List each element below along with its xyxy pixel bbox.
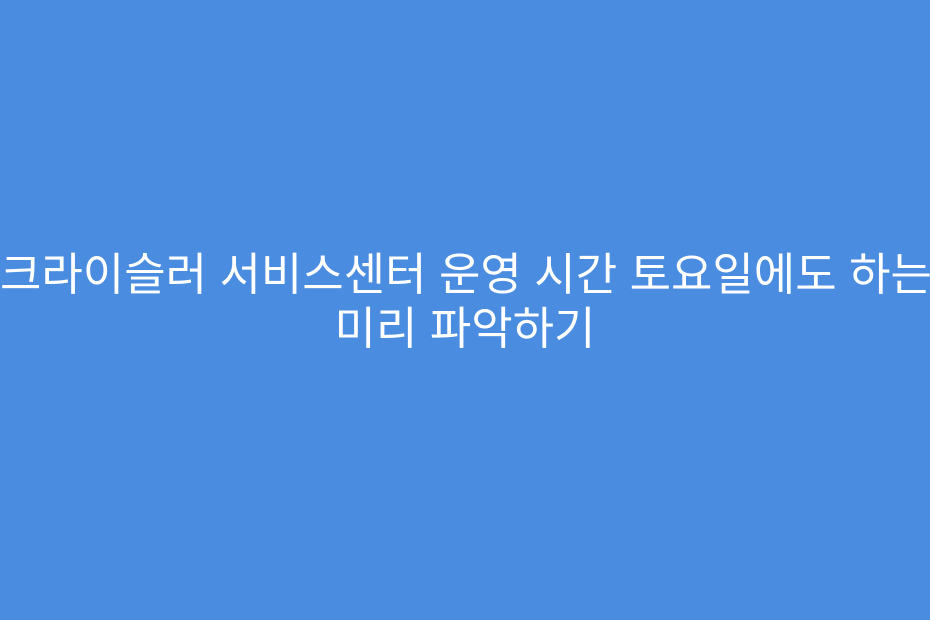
banner-title: 크라이슬러 서비스센터 운영 시간 토요일에도 하는지 미리 파악하기 <box>0 248 930 356</box>
banner-title-line-1: 크라이슬러 서비스센터 운영 시간 토요일에도 하는지 <box>0 248 930 302</box>
title-banner: 크라이슬러 서비스센터 운영 시간 토요일에도 하는지 미리 파악하기 <box>0 0 930 620</box>
banner-title-line-2: 미리 파악하기 <box>0 302 930 356</box>
